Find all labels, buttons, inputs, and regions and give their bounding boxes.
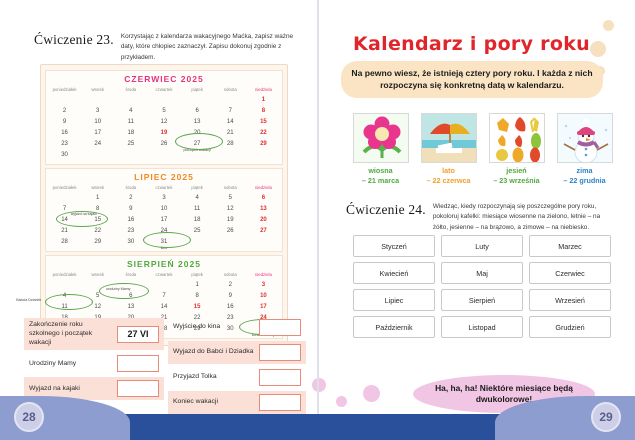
month-tile[interactable]: Sierpień — [441, 289, 523, 311]
day-cell: 5 — [147, 105, 180, 116]
exercise-23-instruction: Korzystając z kalendarza wakacyjnego Mać… — [121, 32, 297, 63]
day-cell: 26 — [147, 138, 180, 149]
month-grid: poniedziałek wtorek środa czwartek piąte… — [48, 185, 280, 247]
month-tile[interactable]: Kwiecień — [353, 262, 435, 284]
answer-label: Zakończenie roku szkolnego i początek wa… — [29, 321, 112, 347]
season-card-lato: lato – 22 czerwca — [417, 113, 480, 185]
day-cell: 13 — [247, 203, 280, 214]
beach-umbrella-icon — [421, 113, 477, 163]
week-row: 123456 — [48, 192, 280, 203]
day-cell: 15 — [247, 116, 280, 127]
day-cell: 15 — [81, 214, 114, 225]
season-date: – 22 czerwca — [427, 176, 471, 185]
page-title: Kalendarz i pory roku — [353, 33, 603, 55]
day-cell: 24 — [147, 225, 180, 236]
month-name: LIPIEC 2025 — [48, 172, 280, 182]
month-tile[interactable]: Luty — [441, 235, 523, 257]
day-cell: 20 — [247, 214, 280, 225]
week-row: 1 — [48, 94, 280, 105]
day-number: 14 — [61, 217, 68, 223]
day-cell: 2 — [114, 192, 147, 203]
day-cell — [214, 94, 247, 105]
calendar-month-lipiec: LIPIEC 2025 poniedziałek wtorek środa cz… — [45, 168, 283, 252]
season-name: wiosna — [368, 166, 392, 175]
answer-label: Wyjazd do Babci i Dziadka — [173, 348, 253, 357]
week-row: 16171819202122 — [48, 127, 280, 138]
day-cell: 4 — [114, 105, 147, 116]
answers-column-left: Zakończenie roku szkolnego i początek wa… — [24, 318, 164, 402]
vacation-calendar: CZERWIEC 2025 poniedziałek wtorek środa … — [40, 64, 288, 346]
answer-row[interactable]: Przyjazd Tolka — [168, 366, 306, 389]
day-cell: 27 — [247, 225, 280, 236]
day-cell: 22 — [81, 225, 114, 236]
exercise-24-header: Ćwiczenie 24. Wiedząc, kiedy rozpoczynaj… — [346, 202, 614, 233]
day-cell — [181, 149, 214, 160]
day-cell: 12 — [147, 116, 180, 127]
day-cell: 11 — [114, 116, 147, 127]
day-header: czwartek — [147, 272, 180, 279]
week-row: 23242526 27 początek wakacji 2829 — [48, 138, 280, 149]
day-header-row: poniedziałek wtorek środa czwartek piąte… — [48, 87, 280, 94]
footer-decoration — [0, 394, 635, 440]
snowman-icon — [557, 113, 613, 163]
day-cell: 25 — [114, 138, 147, 149]
day-cell: 8 — [181, 290, 214, 301]
month-grid: poniedziałek wtorek środa czwartek piąte… — [48, 87, 280, 160]
day-header: środa — [114, 272, 147, 279]
day-cell: 29 — [81, 236, 114, 247]
season-card-jesien: jesień – 23 września — [485, 113, 548, 185]
day-cell — [48, 279, 81, 290]
day-cell — [247, 236, 280, 247]
intro-text: Na pewno wiesz, że istnieją cztery pory … — [341, 61, 603, 98]
day-cell: 6 — [114, 290, 147, 301]
day-cell — [181, 236, 214, 247]
month-tile[interactable]: Maj — [441, 262, 523, 284]
calendar-month-czerwiec: CZERWIEC 2025 poniedziałek wtorek środa … — [45, 70, 283, 165]
left-page: Ćwiczenie 23. Korzystając z kalendarza w… — [0, 0, 318, 440]
day-cell: 4 — [181, 192, 214, 203]
day-cell: 26 — [214, 225, 247, 236]
day-cell: 17 — [147, 214, 180, 225]
answer-row[interactable]: Wyjście do kina — [168, 316, 306, 339]
day-cell — [48, 94, 81, 105]
day-cell: 17 — [81, 127, 114, 138]
day-header: niedziela — [247, 87, 280, 94]
day-number: 11 — [61, 304, 67, 310]
answer-label: Wyjście do kina — [173, 323, 220, 332]
week-row: 123 — [48, 279, 280, 290]
season-caption: lato – 22 czerwca — [417, 166, 480, 185]
day-cell: 6 — [247, 192, 280, 203]
day-header: wtorek — [81, 87, 114, 94]
day-cell: 22 — [247, 127, 280, 138]
exercise-23-header: Ćwiczenie 23. Korzystając z kalendarza w… — [34, 32, 304, 63]
flower-icon — [353, 113, 409, 163]
day-cell: 8 — [247, 105, 280, 116]
season-date: – 21 marca — [362, 176, 399, 185]
day-cell: 6 — [181, 105, 214, 116]
day-cell: 23 — [48, 138, 81, 149]
week-row: 2345678 — [48, 105, 280, 116]
day-cell — [81, 94, 114, 105]
month-name: SIERPIEŃ 2025 — [48, 259, 280, 269]
answer-input[interactable] — [117, 355, 159, 372]
day-cell — [181, 94, 214, 105]
day-cell — [81, 149, 114, 160]
day-cell: 4 — [48, 290, 81, 301]
day-cell: 3 — [81, 105, 114, 116]
day-header: piątek — [181, 185, 214, 192]
week-row: 11 Babcia Dziadek 121314151617 — [48, 301, 280, 312]
day-cell: 9 — [114, 203, 147, 214]
season-card-zima: zima – 22 grudnia — [553, 113, 616, 185]
exercise-24-instruction: Wiedząc, kiedy rozpoczynają się poszczeg… — [433, 202, 614, 233]
answer-input[interactable] — [259, 344, 301, 361]
season-name: zima — [577, 166, 593, 175]
day-cell: 3 — [147, 192, 180, 203]
day-cell: 17 — [247, 301, 280, 312]
day-header: poniedziałek — [48, 87, 81, 94]
exercise-23-title: Ćwiczenie 23. — [34, 32, 114, 48]
season-date: – 23 września — [493, 176, 539, 185]
month-tile[interactable]: Czerwiec — [529, 262, 611, 284]
day-cell: 19 — [214, 214, 247, 225]
day-cell: 2 — [48, 105, 81, 116]
day-cell: 14 — [147, 301, 180, 312]
day-cell-marked: 5 urodziny Mamy — [81, 290, 114, 301]
day-header: piątek — [181, 87, 214, 94]
day-header: niedziela — [247, 272, 280, 279]
day-cell — [48, 192, 81, 203]
day-cell: 11 — [181, 203, 214, 214]
day-header: czwartek — [147, 185, 180, 192]
day-cell: 30 — [114, 236, 147, 247]
answer-label: Wyjazd na kajaki — [29, 385, 80, 394]
day-cell — [147, 149, 180, 160]
day-header-row: poniedziałek wtorek środa czwartek piąte… — [48, 185, 280, 192]
right-page: Kalendarz i pory roku Na pewno wiesz, że… — [318, 0, 635, 440]
day-cell-marked: 31 kino — [147, 236, 180, 247]
day-cell: 3 — [247, 279, 280, 290]
book-spread: Ćwiczenie 23. Korzystając z kalendarza w… — [0, 0, 635, 440]
day-cell: 15 — [181, 301, 214, 312]
months-grid: Styczeń Luty Marzec Kwiecień Maj Czerwie… — [353, 235, 611, 338]
month-name: CZERWIEC 2025 — [48, 74, 280, 84]
calendar-note: kino — [161, 246, 168, 250]
autumn-leaves-icon — [489, 113, 545, 163]
day-cell-marked: 11 Babcia Dziadek — [48, 301, 81, 312]
day-cell-marked: 14 wyjazd na kajaki — [48, 214, 81, 225]
page-gutter — [317, 0, 319, 440]
day-cell — [114, 94, 147, 105]
season-caption: zima – 22 grudnia — [553, 166, 616, 185]
day-cell: 1 — [247, 94, 280, 105]
day-cell: 12 — [214, 203, 247, 214]
day-header: sobota — [214, 185, 247, 192]
calendar-note: Babcia Dziadek — [16, 298, 41, 302]
season-date: – 22 grudnia — [563, 176, 605, 185]
day-cell: 19 — [147, 127, 180, 138]
day-cell — [147, 279, 180, 290]
day-cell: 1 — [181, 279, 214, 290]
day-cell: 18 — [181, 214, 214, 225]
day-cell: 5 — [214, 192, 247, 203]
answer-label: Urodziny Mamy — [29, 360, 76, 369]
day-header: piątek — [181, 272, 214, 279]
answer-input[interactable] — [259, 319, 301, 336]
day-cell: 18 — [114, 127, 147, 138]
week-row: 14 wyjazd na kajaki 151617181920 — [48, 214, 280, 225]
dot — [312, 378, 326, 392]
day-cell: 7 — [214, 105, 247, 116]
day-cell: 9 — [48, 116, 81, 127]
week-row: 9101112131415 — [48, 116, 280, 127]
month-tile[interactable]: Styczeń — [353, 235, 435, 257]
week-row: 4 5 urodziny Mamy 678910 — [48, 290, 280, 301]
week-row: 30 — [48, 149, 280, 160]
answer-label: Przyjazd Tolka — [173, 373, 217, 382]
day-cell: 10 — [81, 116, 114, 127]
day-cell: 2 — [214, 279, 247, 290]
day-cell: 21 — [48, 225, 81, 236]
month-tile[interactable]: Wrzesień — [529, 289, 611, 311]
answer-input[interactable]: 27 VI — [117, 326, 159, 343]
season-name: jesień — [506, 166, 526, 175]
day-header: poniedziałek — [48, 185, 81, 192]
day-header: sobota — [214, 87, 247, 94]
answer-row[interactable]: Wyjazd do Babci i Dziadka — [168, 341, 306, 364]
day-cell — [214, 236, 247, 247]
exercise-24-title: Ćwiczenie 24. — [346, 202, 426, 218]
day-cell: 29 — [247, 138, 280, 149]
day-cell: 25 — [181, 225, 214, 236]
day-number: 27 — [194, 141, 201, 147]
day-header: sobota — [214, 272, 247, 279]
day-header: niedziela — [247, 185, 280, 192]
day-cell: 13 — [181, 116, 214, 127]
week-row: 282930 31 kino — [48, 236, 280, 247]
day-header: czwartek — [147, 87, 180, 94]
day-cell: 24 — [81, 138, 114, 149]
week-row: 21222324252627 — [48, 225, 280, 236]
season-caption: wiosna – 21 marca — [349, 166, 412, 185]
month-tile[interactable]: Listopad — [441, 316, 523, 338]
month-tile[interactable]: Lipiec — [353, 289, 435, 311]
answer-input[interactable] — [259, 369, 301, 386]
month-tile[interactable]: Marzec — [529, 235, 611, 257]
day-header: wtorek — [81, 272, 114, 279]
answer-row[interactable]: Zakończenie roku szkolnego i początek wa… — [24, 318, 164, 350]
day-cell: 1 — [81, 192, 114, 203]
season-card-wiosna: wiosna – 21 marca — [349, 113, 412, 185]
dot — [603, 20, 614, 31]
day-cell: 21 — [214, 127, 247, 138]
seasons-row: wiosna – 21 marca — [349, 113, 617, 185]
day-cell: 23 — [114, 225, 147, 236]
day-cell: 16 — [48, 127, 81, 138]
day-cell: 14 — [214, 116, 247, 127]
day-cell: 12 — [81, 301, 114, 312]
day-cell: 9 — [214, 290, 247, 301]
day-cell — [114, 149, 147, 160]
day-cell: 20 — [181, 127, 214, 138]
month-tile[interactable]: Grudzień — [529, 316, 611, 338]
page-number-right: 29 — [591, 402, 621, 432]
day-header: wtorek — [81, 185, 114, 192]
day-cell: 28 — [214, 138, 247, 149]
day-cell: 16 — [114, 214, 147, 225]
day-number: 31 — [161, 239, 168, 245]
day-cell-marked: 27 początek wakacji — [181, 138, 214, 149]
day-header: środa — [114, 185, 147, 192]
day-header: środa — [114, 87, 147, 94]
day-header-row: poniedziałek wtorek środa czwartek piąte… — [48, 272, 280, 279]
season-name: lato — [442, 166, 455, 175]
day-cell — [214, 149, 247, 160]
season-caption: jesień – 23 września — [485, 166, 548, 185]
day-cell: 16 — [214, 301, 247, 312]
day-cell: 10 — [247, 290, 280, 301]
day-cell: 7 — [147, 290, 180, 301]
day-cell: 13 — [114, 301, 147, 312]
day-header: poniedziałek — [48, 272, 81, 279]
page-number-left: 28 — [14, 402, 44, 432]
day-cell: 10 — [147, 203, 180, 214]
answer-row[interactable]: Urodziny Mamy — [24, 352, 164, 375]
day-number: 5 — [96, 293, 99, 299]
day-cell — [247, 149, 280, 160]
month-tile[interactable]: Październik — [353, 316, 435, 338]
day-cell: 30 — [48, 149, 81, 160]
day-cell: 28 — [48, 236, 81, 247]
day-cell — [147, 94, 180, 105]
